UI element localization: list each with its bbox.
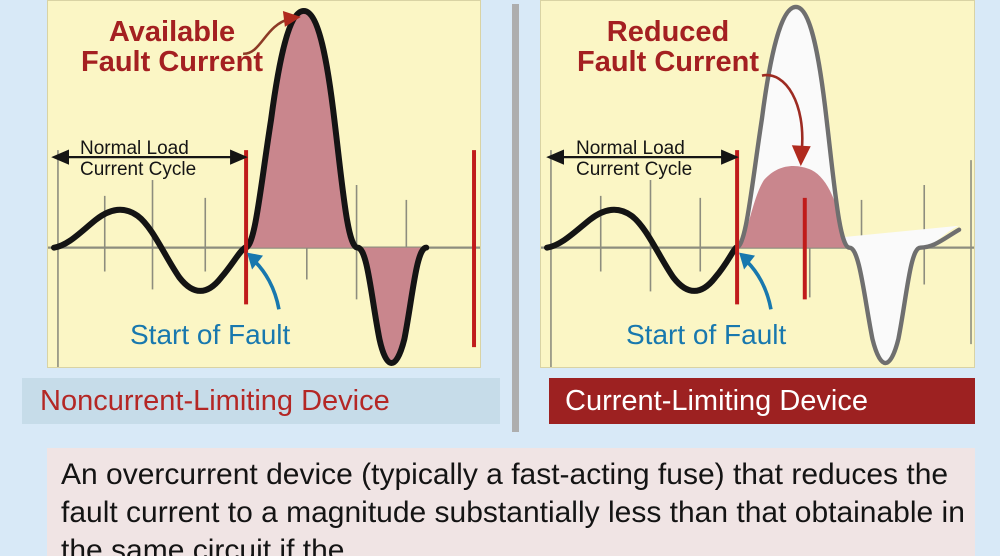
normal-load-cycle-label: Normal Load Current Cycle bbox=[80, 138, 196, 181]
reduced-fault-current-label: Reduced Fault Current bbox=[577, 18, 759, 78]
caption-left-text: Noncurrent-Limiting Device bbox=[40, 385, 390, 418]
normal-load-waveform-line bbox=[547, 210, 736, 291]
arrow-head-right bbox=[231, 151, 245, 163]
caption-noncurrent-limiting-device: Noncurrent-Limiting Device bbox=[22, 378, 500, 424]
arrow-head-right bbox=[722, 151, 736, 163]
start-of-fault-label: Start of Fault bbox=[130, 321, 290, 350]
diagram-root: Available Fault Current Normal Load Curr… bbox=[0, 0, 1000, 556]
fault-current-fill bbox=[245, 11, 426, 363]
panel-current-limiting: Reduced Fault Current Normal Load Curren… bbox=[540, 0, 975, 368]
caption-current-limiting-device: Current-Limiting Device bbox=[549, 378, 975, 424]
description-panel: An overcurrent device (typically a fast-… bbox=[47, 448, 975, 556]
start-of-fault-arrow bbox=[747, 262, 771, 310]
normal-load-cycle-label: Normal Load Current Cycle bbox=[576, 138, 692, 181]
panel-divider bbox=[512, 4, 519, 432]
start-of-fault-arrow bbox=[255, 262, 279, 310]
panel-noncurrent-limiting: Available Fault Current Normal Load Curr… bbox=[47, 0, 481, 368]
start-of-fault-label: Start of Fault bbox=[626, 321, 786, 350]
caption-right-text: Current-Limiting Device bbox=[565, 385, 868, 418]
arrow-head-left bbox=[54, 151, 68, 163]
available-fault-current-label: Available Fault Current bbox=[81, 18, 263, 78]
description-text: An overcurrent device (typically a fast-… bbox=[61, 456, 975, 556]
